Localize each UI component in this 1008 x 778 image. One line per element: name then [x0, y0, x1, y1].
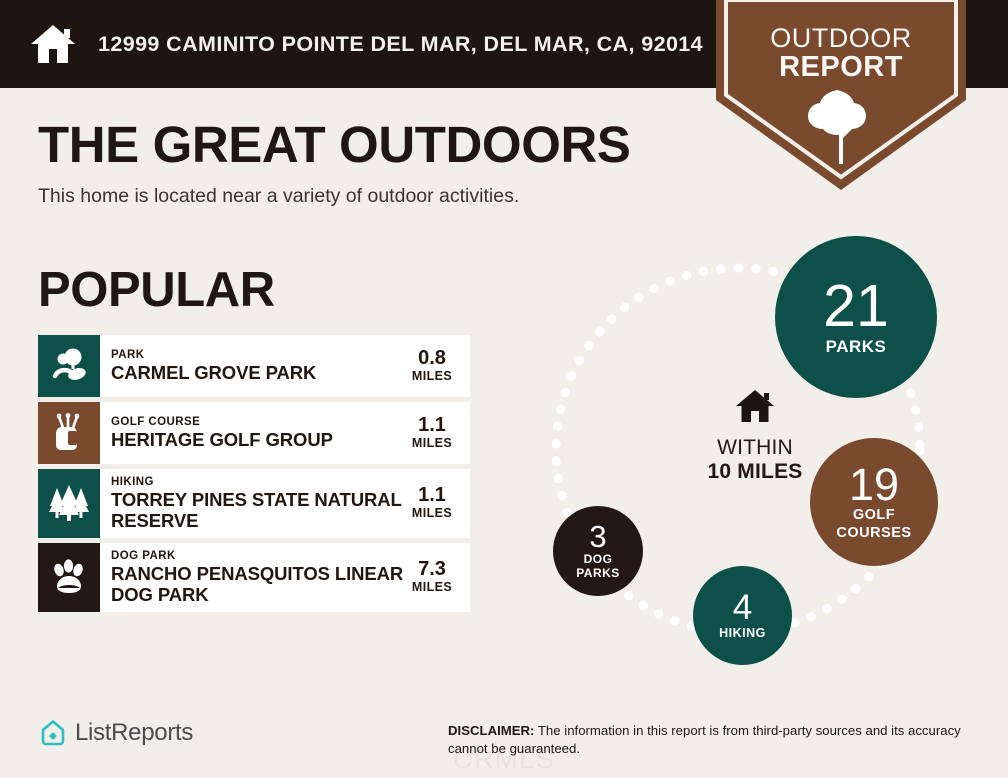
bubble-parks[interactable]: 21 PARKS — [775, 236, 937, 398]
list-item-body: HIKING TORREY PINES STATE NATURAL RESERV… — [100, 469, 470, 538]
page-subtitle: This home is located near a variety of o… — [38, 185, 631, 208]
list-item-name: RANCHO PENASQUITOS LINEAR DOG PARK — [111, 564, 404, 605]
list-item-category: GOLF COURSE — [111, 415, 404, 429]
bubble-hiking-label: HIKING — [719, 627, 766, 640]
bubble-hiking[interactable]: 4 HIKING — [693, 566, 792, 665]
list-item-distance: 1.1 MILES — [404, 415, 466, 451]
park-tree-icon-tile — [38, 335, 100, 397]
bubble-dog-label-1: DOG — [584, 553, 613, 566]
list-item-text: HIKING TORREY PINES STATE NATURAL RESERV… — [111, 475, 404, 532]
list-item-category: PARK — [111, 348, 404, 362]
distance-value: 1.1 — [404, 415, 460, 436]
golf-bag-icon — [50, 413, 88, 453]
listreports-house-icon — [40, 719, 66, 747]
title-block: THE GREAT OUTDOORS This home is located … — [38, 118, 631, 208]
page-title: THE GREAT OUTDOORS — [38, 118, 631, 172]
list-item-name: TORREY PINES STATE NATURAL RESERVE — [111, 490, 404, 531]
list-item[interactable]: HIKING TORREY PINES STATE NATURAL RESERV… — [38, 469, 470, 538]
list-item[interactable]: DOG PARK RANCHO PENASQUITOS LINEAR DOG P… — [38, 543, 470, 612]
outdoor-report-page: 12999 CAMINITO POINTE DEL MAR, DEL MAR, … — [0, 0, 1008, 778]
distance-unit: MILES — [404, 506, 460, 521]
outdoor-bubble-chart: 21 PARKS 19 GOLF COURSES 4 HIKING 3 DOG … — [520, 228, 990, 668]
bubble-parks-value: 21 — [823, 278, 889, 335]
golf-bag-icon-tile — [38, 402, 100, 464]
bubble-hiking-value: 4 — [733, 591, 752, 625]
popular-heading: POPULAR — [38, 262, 275, 318]
list-item-name: CARMEL GROVE PARK — [111, 363, 404, 384]
listreports-logo-text: ListReports — [75, 719, 193, 747]
bubble-dog-label-2: PARKS — [576, 567, 620, 580]
list-item-distance: 1.1 MILES — [404, 485, 466, 521]
distance-value: 0.8 — [404, 348, 460, 369]
list-item[interactable]: PARK CARMEL GROVE PARK 0.8 MILES — [38, 335, 470, 397]
list-item-body: PARK CARMEL GROVE PARK 0.8 MILES — [100, 335, 470, 397]
center-label-line-1: WITHIN — [662, 436, 848, 460]
center-label-line-2: 10 MILES — [662, 460, 848, 484]
list-item-body: GOLF COURSE HERITAGE GOLF GROUP 1.1 MILE… — [100, 402, 470, 464]
list-item-text: GOLF COURSE HERITAGE GOLF GROUP — [111, 415, 404, 451]
badge-line-2: REPORT — [716, 52, 966, 82]
disclaimer-label: DISCLAIMER: — [448, 723, 534, 738]
bubble-dog-value: 3 — [589, 522, 606, 552]
bubble-golf-label-1: GOLF — [853, 508, 895, 523]
bubble-parks-label: PARKS — [826, 338, 887, 356]
distance-value: 7.3 — [404, 559, 460, 580]
outdoor-report-badge: OUTDOOR REPORT — [716, 0, 966, 190]
paw-print-icon-tile — [38, 543, 100, 612]
bubble-dog-parks[interactable]: 3 DOG PARKS — [553, 506, 643, 596]
home-icon — [662, 388, 848, 429]
list-item[interactable]: GOLF COURSE HERITAGE GOLF GROUP 1.1 MILE… — [38, 402, 470, 464]
badge-line-1: OUTDOOR — [716, 24, 966, 52]
list-item-category: HIKING — [111, 475, 404, 489]
park-tree-icon — [49, 346, 89, 386]
pine-trees-icon-tile — [38, 469, 100, 538]
chart-center-label: WITHIN 10 MILES — [662, 388, 848, 483]
home-icon — [30, 23, 76, 65]
list-item-text: PARK CARMEL GROVE PARK — [111, 348, 404, 384]
header-content: 12999 CAMINITO POINTE DEL MAR, DEL MAR, … — [30, 0, 703, 88]
list-item-category: DOG PARK — [111, 549, 404, 563]
paw-print-icon — [49, 557, 89, 597]
listreports-logo[interactable]: ListReports — [40, 719, 193, 747]
distance-value: 1.1 — [404, 485, 460, 506]
badge-text: OUTDOOR REPORT — [716, 24, 966, 83]
popular-list: PARK CARMEL GROVE PARK 0.8 MILES — [38, 335, 470, 617]
list-item-body: DOG PARK RANCHO PENASQUITOS LINEAR DOG P… — [100, 543, 470, 612]
distance-unit: MILES — [404, 369, 460, 384]
distance-unit: MILES — [404, 580, 460, 595]
bubble-golf-label-2: COURSES — [836, 526, 911, 541]
pine-trees-icon — [48, 484, 90, 522]
list-item-distance: 0.8 MILES — [404, 348, 466, 384]
distance-unit: MILES — [404, 436, 460, 451]
property-address: 12999 CAMINITO POINTE DEL MAR, DEL MAR, … — [98, 32, 703, 57]
list-item-text: DOG PARK RANCHO PENASQUITOS LINEAR DOG P… — [111, 549, 404, 606]
disclaimer: DISCLAIMER: The information in this repo… — [448, 722, 983, 759]
list-item-name: HERITAGE GOLF GROUP — [111, 430, 404, 451]
bubble-golf-value: 19 — [849, 463, 899, 506]
list-item-distance: 7.3 MILES — [404, 559, 466, 595]
